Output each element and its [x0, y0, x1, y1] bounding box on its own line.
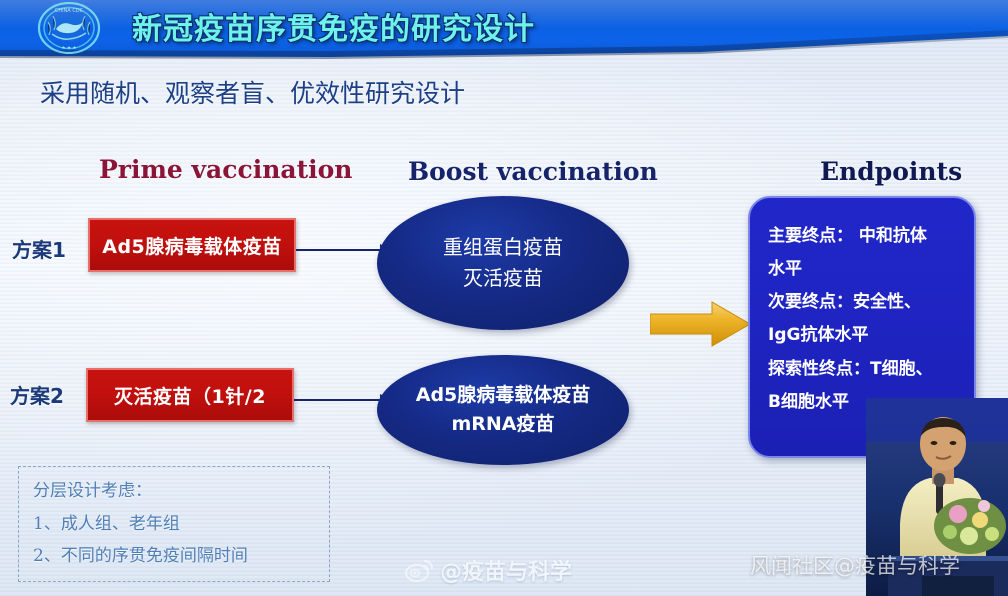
- endpoint-line-3: 次要终点：安全性、: [768, 286, 958, 319]
- arm-label-2: 方案2: [10, 380, 64, 409]
- slide-header: CHINA CDC ★ ★ ★ 新冠疫苗序贯免疫的研究设计: [0, 0, 1008, 72]
- page-title: 新冠疫苗序贯免疫的研究设计: [132, 4, 535, 48]
- endpoint-line-1: 主要终点： 中和抗体: [768, 220, 958, 253]
- institution-emblem-icon: CHINA CDC ★ ★ ★: [30, 2, 108, 54]
- stratification-item-1: 1、成人组、老年组: [33, 508, 319, 541]
- endpoint-line-2: 水平: [768, 253, 958, 286]
- community-watermark: 风闻社区@疫苗与科学: [750, 550, 960, 580]
- endpoint-line-5: 探索性终点：T细胞、: [768, 353, 958, 386]
- weibo-handle-text: @疫苗与科学: [440, 554, 572, 586]
- boost-vaccine-ellipse-1: 重组蛋白疫苗 灭活疫苗: [377, 196, 629, 330]
- weibo-watermark: @疫苗与科学: [404, 555, 572, 585]
- svg-text:CHINA CDC: CHINA CDC: [55, 8, 84, 14]
- slide-subtitle: 采用随机、观察者盲、优效性研究设计: [40, 74, 465, 110]
- stratification-item-2: 2、不同的序贯免疫间隔时间: [33, 540, 319, 573]
- boost-vaccine-line-1a: 重组蛋白疫苗: [443, 232, 563, 263]
- prime-vaccine-box-2: 灭活疫苗（1针/2: [86, 368, 294, 422]
- prime-vaccine-label-1: Ad5腺病毒载体疫苗: [102, 232, 282, 259]
- column-heading-endpoints: Endpoints: [820, 157, 962, 186]
- stratification-heading: 分层设计考虑：: [33, 475, 319, 508]
- endpoint-line-4: IgG抗体水平: [768, 319, 958, 352]
- svg-text:★ ★ ★: ★ ★ ★: [62, 45, 77, 51]
- column-heading-boost: Boost vaccination: [408, 157, 658, 186]
- gold-block-arrow-icon: [650, 300, 750, 348]
- stratification-box: 分层设计考虑： 1、成人组、老年组 2、不同的序贯免疫间隔时间: [18, 466, 330, 582]
- slide-screenshot: CHINA CDC ★ ★ ★ 新冠疫苗序贯免疫的研究设计 采用随机、观察者盲、…: [0, 0, 1008, 596]
- column-heading-prime: Prime vaccination: [99, 155, 352, 184]
- prime-vaccine-label-2: 灭活疫苗（1针/2: [114, 382, 266, 409]
- boost-vaccine-ellipse-2: Ad5腺病毒载体疫苗 mRNA疫苗: [377, 355, 629, 465]
- weibo-logo-icon: [404, 558, 434, 582]
- prime-vaccine-box-1: Ad5腺病毒载体疫苗: [88, 218, 296, 272]
- boost-vaccine-line-1b: 灭活疫苗: [463, 263, 543, 294]
- boost-vaccine-line-2a: Ad5腺病毒载体疫苗: [416, 381, 591, 410]
- arm-label-1: 方案1: [12, 234, 66, 263]
- boost-vaccine-line-2b: mRNA疫苗: [451, 410, 554, 439]
